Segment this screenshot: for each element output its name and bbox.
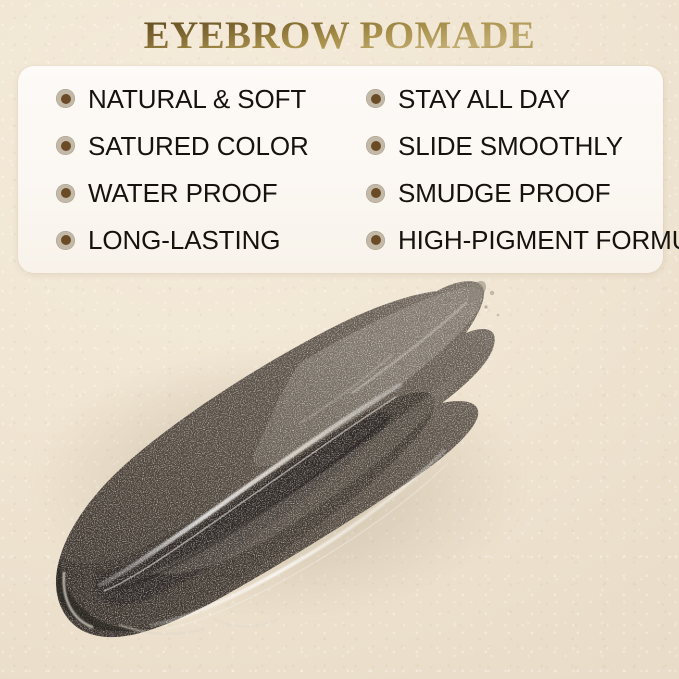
feature-label: SMUDGE PROOF [398, 178, 611, 208]
feature-item-slide-smoothly: SLIDE SMOOTHLY [366, 122, 679, 169]
feature-item-smudge-proof: SMUDGE PROOF [366, 170, 679, 217]
bullet-dot-icon [56, 231, 75, 250]
feature-item-long-lasting: LONG-LASTING [56, 217, 366, 264]
feature-item-natural-soft: NATURAL & SOFT [56, 75, 366, 122]
feature-item-satured-color: SATURED COLOR [56, 122, 366, 169]
pomade-smear-graphic [0, 273, 679, 679]
bullet-dot-icon [366, 136, 385, 155]
feature-list: NATURAL & SOFT STAY ALL DAY SATURED COLO… [18, 66, 663, 273]
feature-label: WATER PROOF [88, 178, 278, 208]
feature-label: HIGH-PIGMENT FORMULA [398, 225, 679, 255]
feature-item-stay-all-day: STAY ALL DAY [366, 75, 679, 122]
feature-item-water-proof: WATER PROOF [56, 170, 366, 217]
bullet-dot-icon [366, 231, 385, 250]
feature-card: NATURAL & SOFT STAY ALL DAY SATURED COLO… [18, 66, 663, 273]
bullet-dot-icon [56, 89, 75, 108]
feature-label: SLIDE SMOOTHLY [398, 131, 623, 161]
bullet-dot-icon [56, 184, 75, 203]
page-title: EYEBROW POMADE [0, 13, 679, 58]
bullet-dot-icon [366, 89, 385, 108]
feature-label: LONG-LASTING [88, 225, 280, 255]
feature-item-high-pigment-formula: HIGH-PIGMENT FORMULA [366, 217, 679, 264]
product-graphic-page: EYEBROW POMADE NATURAL & SOFT STAY ALL D… [0, 0, 679, 679]
product-swatch-image [0, 273, 679, 679]
feature-label: NATURAL & SOFT [88, 84, 306, 114]
feature-label: SATURED COLOR [88, 131, 309, 161]
bullet-dot-icon [366, 184, 385, 203]
bullet-dot-icon [56, 136, 75, 155]
feature-label: STAY ALL DAY [398, 84, 570, 114]
